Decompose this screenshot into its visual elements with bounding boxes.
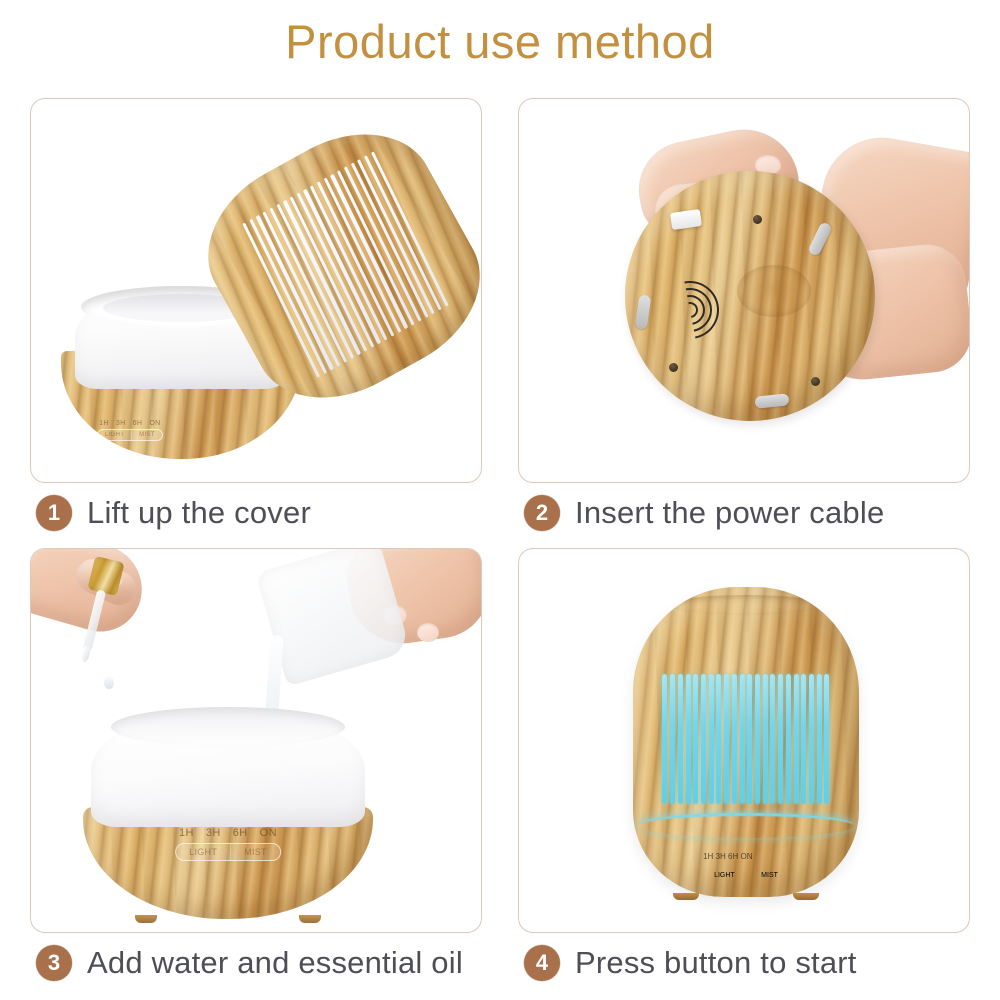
mist-button[interactable]: MIST: [230, 844, 280, 860]
tank-rim-3: [111, 707, 345, 747]
timer-label: 6H: [133, 420, 143, 427]
step-label-4: Press button to start: [575, 945, 857, 981]
step-image-panel-1: 1H 3H 6H ON LIGHT MIST: [30, 98, 482, 483]
step-caption-1: 1 Lift up the cover: [36, 490, 311, 536]
oil-droplet: [104, 675, 114, 689]
button-pair-4[interactable]: LIGHT MIST: [703, 864, 789, 882]
glowing-slats: [662, 674, 829, 804]
step-caption-3: 3 Add water and essential oil: [36, 940, 463, 986]
step-badge-4: 4: [524, 945, 560, 981]
timer-label: 6H: [728, 852, 738, 861]
step-cell-2: 2 Insert the power cable: [518, 98, 970, 538]
step-badge-3: 3: [36, 945, 72, 981]
step-label-3: Add water and essential oil: [87, 945, 463, 981]
timer-labels-1: 1H 3H 6H ON: [99, 420, 161, 427]
dropper-tip: [81, 646, 92, 663]
fingernail: [417, 623, 439, 642]
timer-label: 6H: [233, 827, 248, 839]
base-foot: [673, 893, 699, 900]
page-title: Product use method: [0, 14, 1000, 69]
timer-labels-3: 1H 3H 6H ON: [179, 827, 277, 839]
diffuser-wood-body-4: 1H 3H 6H ON LIGHT MIST: [633, 587, 859, 897]
rubber-foot: [807, 221, 833, 257]
timer-label: ON: [149, 420, 160, 427]
timer-label: ON: [260, 827, 277, 839]
step-badge-2: 2: [524, 495, 560, 531]
step-cell-1: 1H 3H 6H ON LIGHT MIST: [30, 98, 482, 538]
timer-label: 1H: [179, 827, 194, 839]
control-panel-3[interactable]: 1H 3H 6H ON LIGHT MIST: [175, 827, 281, 861]
control-panel-4[interactable]: 1H 3H 6H ON LIGHT MIST: [703, 852, 789, 882]
step-caption-2: 2 Insert the power cable: [524, 490, 884, 536]
light-button[interactable]: LIGHT: [176, 844, 230, 860]
cover-slats: [243, 151, 449, 378]
light-button[interactable]: LIGHT: [703, 870, 746, 881]
step-badge-1: 1: [36, 495, 72, 531]
assembled-diffuser-illustration: 1H 3H 6H ON LIGHT MIST: [633, 587, 859, 897]
button-pair-1[interactable]: LIGHT MIST: [97, 429, 163, 441]
control-panel-1[interactable]: 1H 3H 6H ON LIGHT MIST: [97, 420, 163, 441]
base-foot: [299, 915, 321, 923]
lid-seam: [669, 595, 823, 615]
step-label-1: Lift up the cover: [87, 495, 311, 531]
led-light-ring: [638, 813, 855, 838]
timer-label: 1H: [99, 420, 109, 427]
base-foot: [793, 893, 819, 900]
step-label-2: Insert the power cable: [575, 495, 884, 531]
step-cell-3: 1H 3H 6H ON LIGHT MIST 3 Add water and e: [30, 548, 482, 988]
rubber-foot: [754, 393, 789, 408]
diffuser-bottom-disc: [625, 171, 875, 421]
step-cell-4: 1H 3H 6H ON LIGHT MIST: [518, 548, 970, 988]
rubber-foot: [635, 294, 652, 329]
timer-label: 3H: [716, 852, 726, 861]
step-caption-4: 4 Press button to start: [524, 940, 857, 986]
timer-label: 3H: [116, 420, 126, 427]
light-button[interactable]: LIGHT: [98, 430, 131, 440]
fan-vent-icon: [661, 281, 719, 339]
step-image-panel-3: 1H 3H 6H ON LIGHT MIST: [30, 548, 482, 933]
diffuser-base-open: 1H 3H 6H ON LIGHT MIST: [83, 709, 373, 919]
timer-label: ON: [741, 852, 753, 861]
steps-grid: 1H 3H 6H ON LIGHT MIST: [30, 98, 970, 988]
mist-button[interactable]: MIST: [750, 870, 789, 881]
step-image-panel-2: [518, 98, 970, 483]
screw-hole: [753, 215, 762, 224]
button-pair-3[interactable]: LIGHT MIST: [175, 843, 281, 861]
timer-label: 1H: [703, 852, 713, 861]
screw-hole: [811, 377, 820, 386]
timer-labels-4: 1H 3H 6H ON: [703, 852, 789, 861]
cable-port-recess: [737, 265, 811, 317]
infographic-page: Product use method 1H 3H 6H ON: [0, 0, 1000, 1000]
screw-hole: [669, 363, 678, 372]
timer-label: 3H: [206, 827, 221, 839]
mist-button[interactable]: MIST: [131, 430, 162, 440]
base-foot: [135, 915, 157, 923]
step-image-panel-4: 1H 3H 6H ON LIGHT MIST: [518, 548, 970, 933]
